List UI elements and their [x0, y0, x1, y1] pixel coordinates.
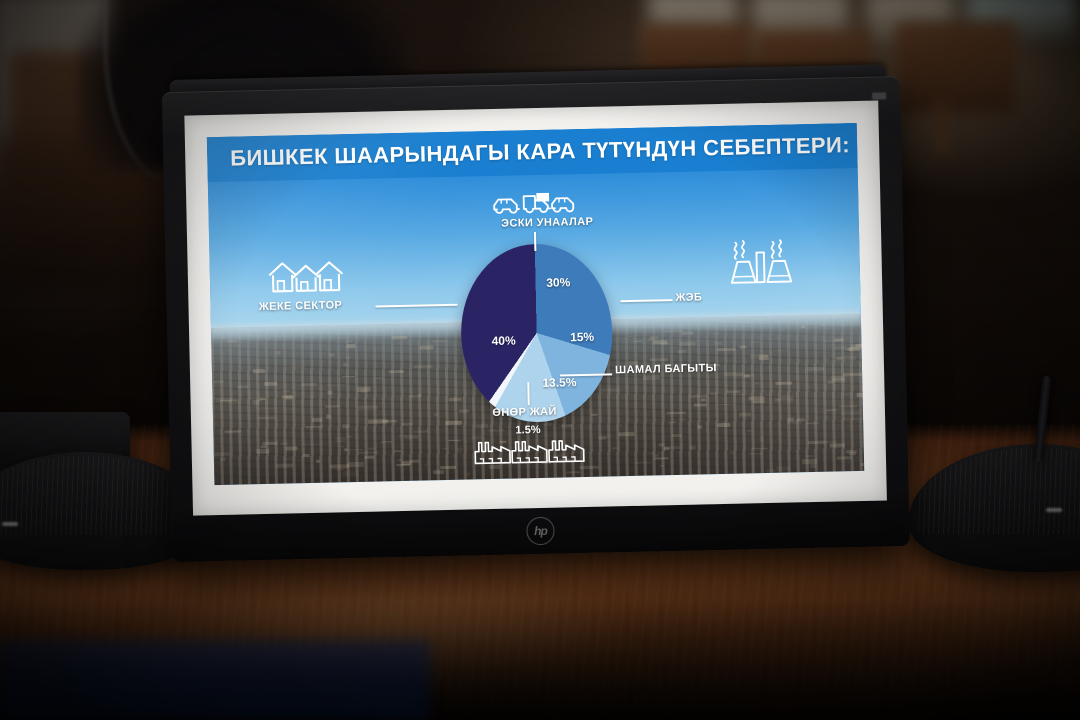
label-industry: ӨНӨР ЖАЙ [492, 406, 557, 419]
slide-title: БИШКЕК ШААРЫНДАГЫ КАРА ТҮТҮНДҮН СЕБЕПТЕР… [207, 132, 851, 172]
bezel-marking [872, 92, 886, 99]
factories-icon [473, 437, 584, 465]
label-old-vehicles: ЭСКИ УНААЛАР [501, 215, 593, 229]
pie-label-industry-13-5: 13.5% [542, 375, 576, 390]
label-wind-direction: ШАМАЛ БАГЫТЫ [615, 362, 717, 376]
microphone-indicator [1046, 508, 1062, 512]
pie-label-chp: 15% [570, 330, 594, 345]
monitor-screen: БИШКЕК ШААРЫНДАГЫ КАРА ТҮТҮНДҮН СЕБЕПТЕР… [184, 101, 887, 516]
microphone-indicator [2, 522, 18, 526]
screenshot-scene: БИШКЕК ШААРЫНДАГЫ КАРА ТҮТҮНДҮН СЕБЕПТЕР… [0, 0, 1080, 720]
monitor-bezel: БИШКЕК ШААРЫНДАГЫ КАРА ТҮТҮНДҮН СЕБЕПТЕР… [162, 76, 910, 562]
connector-old-vehicles [534, 232, 536, 251]
pie-label-private-sector: 40% [492, 334, 516, 349]
presentation-slide: БИШКЕК ШААРЫНДАГЫ КАРА ТҮТҮНДҮН СЕБЕПТЕР… [206, 123, 864, 485]
hp-logo-icon: hp [526, 517, 555, 546]
desk-foreground-object [0, 640, 430, 720]
cars-truck-icon [491, 186, 576, 220]
value-industry: 1.5% [515, 424, 540, 437]
houses-icon [268, 255, 357, 297]
background-chair [896, 22, 1016, 114]
hp-monitor: БИШКЕК ШААРЫНДАГЫ КАРА ТҮТҮНДҮН СЕБЕПТЕР… [162, 76, 910, 562]
pie-label-old-vehicles: 30% [546, 276, 570, 291]
pie-chart: 30% 15% 13.5% 40% [459, 243, 614, 424]
label-private-sector: ЖЕКЕ СЕКТОР [259, 299, 343, 313]
cooling-towers-icon [723, 239, 799, 287]
slide-page-number: 4 [845, 456, 850, 467]
chair-leg [936, 100, 948, 152]
label-chp: ЖЭБ [675, 291, 702, 304]
